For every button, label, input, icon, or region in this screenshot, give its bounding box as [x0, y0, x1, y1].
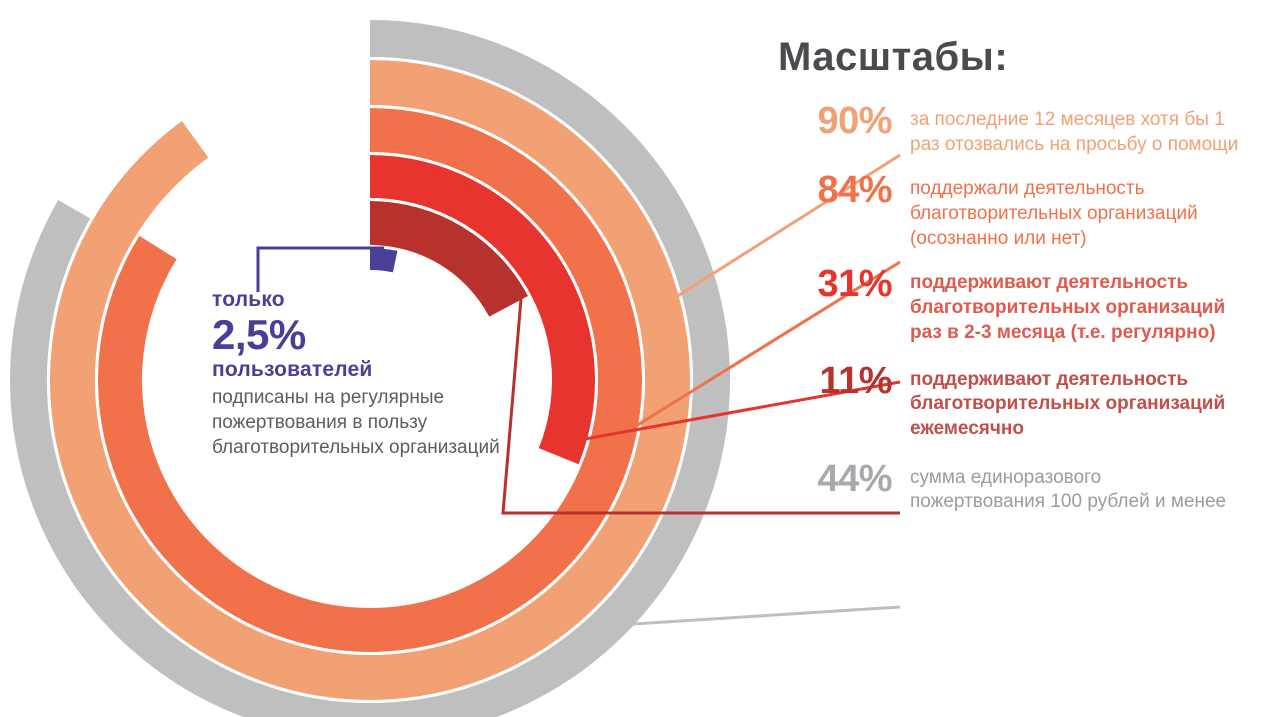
legend-item-90[interactable]: 90% за последние 12 месяцев хотя бы 1 ра…: [762, 102, 1262, 157]
callout-unit: пользователей: [212, 358, 512, 381]
callout-body: подписаны на регулярные пожертвования в …: [212, 385, 504, 460]
legend-percent-31: 31%: [762, 265, 910, 303]
callout-kicker: только: [212, 288, 512, 311]
leader-line-2-5: [258, 248, 383, 292]
legend-percent-44: 44%: [762, 460, 910, 498]
infographic-canvas: только 2,5% пользователей подписаны на р…: [0, 0, 1280, 717]
legend-percent-90: 90%: [762, 102, 910, 140]
legend-item-84[interactable]: 84% поддержали деятельность благотворите…: [762, 171, 1262, 251]
legend-item-11[interactable]: 11% поддерживают деятельность благотвори…: [762, 362, 1262, 442]
legend-description-31: поддерживают деятельность благотворитель…: [910, 265, 1240, 345]
legend-percent-11: 11%: [762, 362, 910, 400]
legend-description-84: поддержали деятельность благотворительны…: [910, 171, 1240, 251]
callout-2-5-percent: только 2,5% пользователей подписаны на р…: [212, 288, 512, 460]
legend-item-44[interactable]: 44% сумма единоразового пожертвования 10…: [762, 460, 1262, 515]
legend-percent-84: 84%: [762, 171, 910, 209]
legend-description-11: поддерживают деятельность благотворитель…: [910, 362, 1240, 442]
legend-item-31[interactable]: 31% поддерживают деятельность благотвори…: [762, 265, 1262, 345]
legend-description-90: за последние 12 месяцев хотя бы 1 раз от…: [910, 102, 1240, 157]
callout-value: 2,5%: [212, 311, 512, 358]
legend-panel: Масштабы: 90% за последние 12 месяцев хо…: [762, 36, 1262, 696]
page-title: Масштабы:: [778, 36, 1262, 78]
legend-description-44: сумма единоразового пожертвования 100 ру…: [910, 460, 1240, 515]
